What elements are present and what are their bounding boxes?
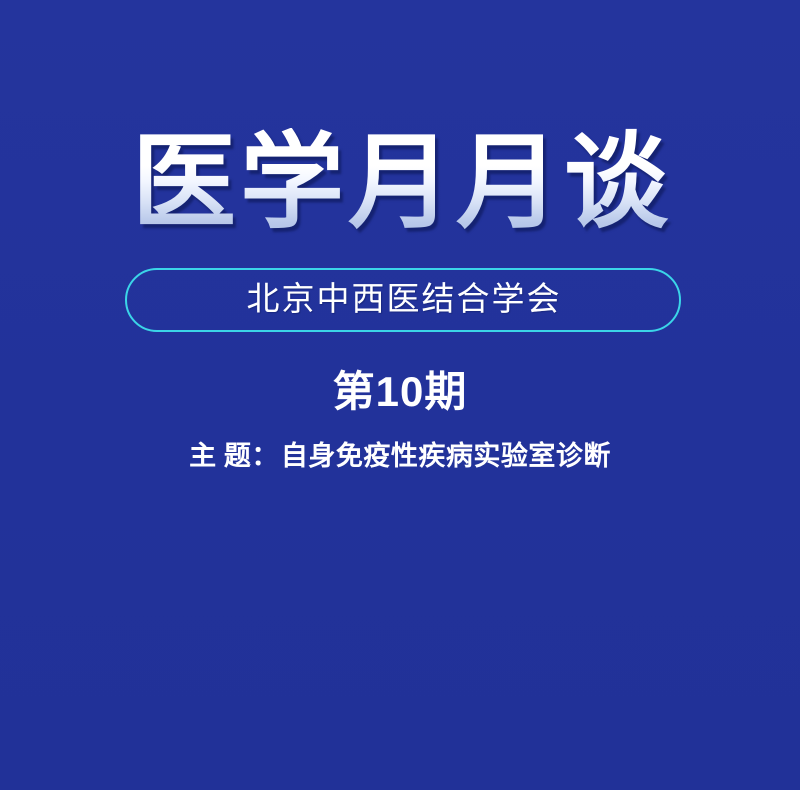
- organization-pill: 北京中西医结合学会: [125, 268, 681, 332]
- issue-number: 第10期: [0, 369, 800, 415]
- organization-name: 北京中西医结合学会: [247, 284, 562, 317]
- topic-label: 主 题：: [189, 441, 279, 471]
- page-title: 医学月月谈: [132, 128, 672, 240]
- lower-blank-area: [0, 500, 800, 790]
- poster-canvas: 医学月月谈 北京中西医结合学会 第10期 主 题：自身免疫性疾病实验室诊断: [0, 0, 800, 790]
- topic-value: 自身免疫性疾病实验室诊断: [281, 441, 611, 471]
- topic-line: 主 题：自身免疫性疾病实验室诊断: [0, 440, 800, 472]
- main-title-container: 医学月月谈: [0, 128, 800, 240]
